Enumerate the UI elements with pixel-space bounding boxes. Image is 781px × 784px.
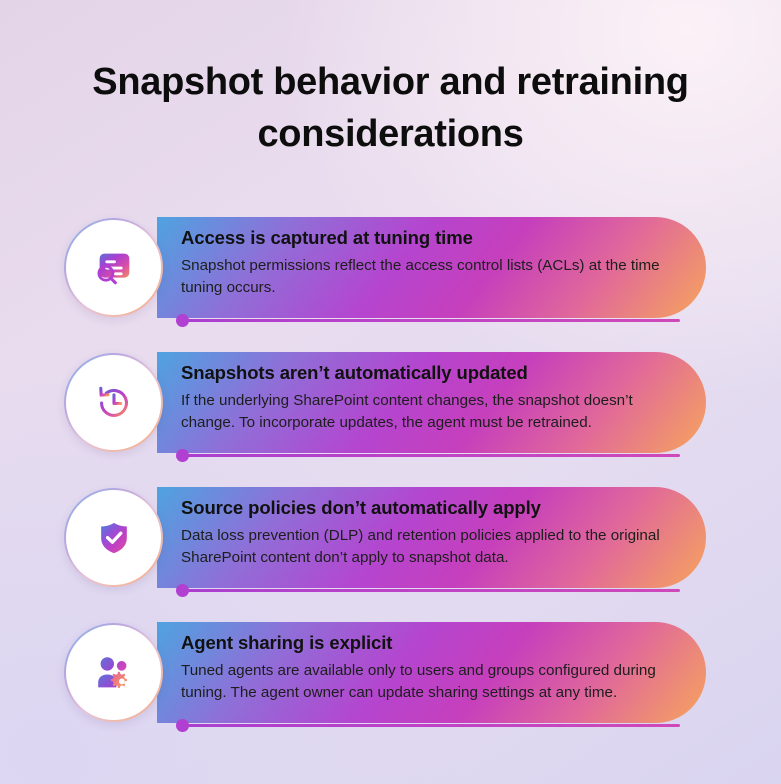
card-heading: Source policies don’t automatically appl… (181, 497, 693, 519)
card-rail-dot (176, 584, 189, 597)
card-heading: Snapshots aren’t automatically updated (181, 362, 693, 384)
card-underline-rail (180, 724, 680, 727)
card-text-block: Access is captured at tuning time Snapsh… (181, 227, 693, 298)
card-rail-dot (176, 719, 189, 732)
card-list: Access is captured at tuning time Snapsh… (0, 206, 781, 746)
card-underline-rail (180, 589, 680, 592)
card-body: Tuned agents are available only to users… (181, 660, 681, 703)
card-body: If the underlying SharePoint content cha… (181, 390, 681, 433)
card-heading: Agent sharing is explicit (181, 632, 693, 654)
card-text-block: Agent sharing is explicit Tuned agents a… (181, 632, 693, 703)
card-icon-badge (64, 353, 163, 452)
card-body: Snapshot permissions reflect the access … (181, 255, 681, 298)
card-icon-badge (64, 488, 163, 587)
document-search-icon (66, 220, 161, 315)
card-icon-badge (64, 623, 163, 722)
card-item: Source policies don’t automatically appl… (0, 476, 781, 611)
page-title: Snapshot behavior and retraining conside… (60, 56, 721, 161)
card-underline-rail (180, 319, 680, 322)
card-text-block: Snapshots aren’t automatically updated I… (181, 362, 693, 433)
card-item: Access is captured at tuning time Snapsh… (0, 206, 781, 341)
card-rail-dot (176, 449, 189, 462)
card-item: Agent sharing is explicit Tuned agents a… (0, 611, 781, 746)
card-rail-dot (176, 314, 189, 327)
shield-check-icon (66, 490, 161, 585)
card-icon-badge (64, 218, 163, 317)
card-heading: Access is captured at tuning time (181, 227, 693, 249)
page-title-wrap: Snapshot behavior and retraining conside… (0, 56, 781, 161)
people-settings-icon (66, 625, 161, 720)
card-underline-rail (180, 454, 680, 457)
clock-history-icon (66, 355, 161, 450)
card-item: Snapshots aren’t automatically updated I… (0, 341, 781, 476)
infographic-page: Snapshot behavior and retraining conside… (0, 0, 781, 784)
card-body: Data loss prevention (DLP) and retention… (181, 525, 681, 568)
card-text-block: Source policies don’t automatically appl… (181, 497, 693, 568)
